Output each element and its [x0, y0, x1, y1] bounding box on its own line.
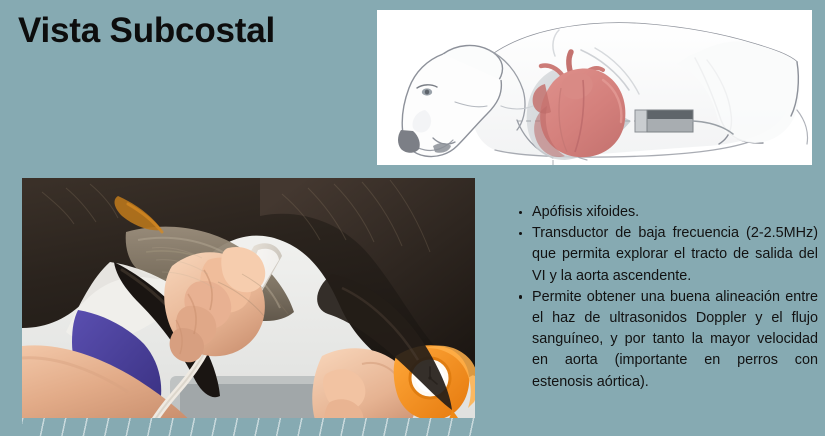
bullet-apofisis-xifoides: Apófisis xifoides. [518, 202, 818, 223]
bullet-marker-icon [519, 232, 522, 235]
diagram-panel [377, 10, 812, 165]
bullet-marker-icon [519, 211, 522, 214]
bullet-transductor-baja-frecuencia: Transductor de baja frecuencia (2-2.5MHz… [518, 223, 818, 287]
bullet-text: Transductor de baja frecuencia (2-2.5MHz… [532, 225, 818, 283]
subcostal-probe-placement-photo [22, 178, 475, 436]
subcostal-view-dog-illustration [377, 10, 812, 165]
bullet-text: Permite obtener una buena alineación ent… [532, 289, 818, 390]
bullet-list: Apófisis xifoides. Transductor de baja f… [518, 202, 818, 393]
bullet-text: Apófisis xifoides. [532, 204, 639, 220]
hatch-overlay-strip [22, 418, 475, 436]
presentation-slide: Vista Subcostal [0, 0, 825, 436]
bullet-marker-icon [519, 295, 522, 298]
photo-content [22, 178, 475, 436]
page-title: Vista Subcostal [18, 12, 275, 51]
bullet-alineacion-doppler: Permite obtener una buena alineación ent… [518, 287, 818, 393]
